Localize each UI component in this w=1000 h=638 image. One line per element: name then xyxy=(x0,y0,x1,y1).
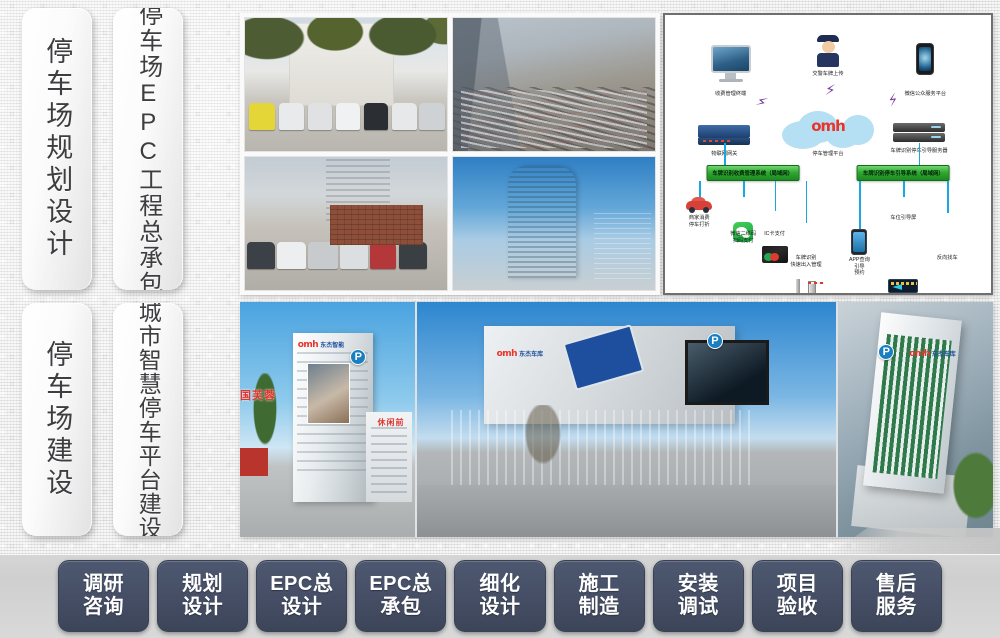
step-label-line2: 制造 xyxy=(579,596,620,619)
step-button-project-acceptance[interactable]: 项目 验收 xyxy=(752,560,843,632)
omh-logo: omh东杰车库 xyxy=(909,349,955,359)
step-button-planning-design[interactable]: 规划 设计 xyxy=(157,560,248,632)
find-car-label: 反向找车 xyxy=(937,255,958,262)
tree-decor xyxy=(251,373,279,453)
process-step-bar: 调研 咨询 规划 设计 EPC总 设计 EPC总 承包 细化 设计 施工 制造 … xyxy=(0,554,1000,638)
sidebar-card-epc-contracting[interactable]: 停车场EPC工程总承包 xyxy=(113,8,183,290)
tree-decor xyxy=(518,405,568,476)
render-smart-garage-building: omh东杰车库 P xyxy=(417,302,836,537)
cloud-platform-label: 停车管理平台 xyxy=(812,151,843,158)
sidebar-card-parking-construction[interactable]: 停车场建设 xyxy=(22,303,92,536)
step-label-line2: 咨询 xyxy=(83,596,124,619)
step-label-line2: 设计 xyxy=(479,596,520,619)
cloud-platform-icon: omh xyxy=(780,109,876,149)
connector-line xyxy=(947,181,948,213)
car-icon xyxy=(686,197,712,212)
smartphone-icon xyxy=(916,43,934,75)
system-architecture-diagram: omh 停车管理平台 收费管理终端 交警车牌上传 微信公众服务平台 物联网网关 xyxy=(663,13,993,295)
step-label-line2: 设计 xyxy=(281,596,322,619)
step-label-line1: 售后 xyxy=(876,573,917,596)
photo-glass-office-tower xyxy=(452,156,656,291)
lightning-bolt-icon: ⚡ xyxy=(824,83,836,99)
landscape-greenery xyxy=(950,448,993,523)
step-label-line1: 调研 xyxy=(83,573,124,596)
charge-system-box: 车牌识别收费管理系统（局域网） xyxy=(706,165,799,181)
ic-card-icon xyxy=(762,246,788,263)
parking-p-badge: P xyxy=(707,333,723,349)
render-aerial-parking-tower: omh东杰车库 P xyxy=(838,302,993,537)
aerial-tower-building xyxy=(863,312,961,493)
step-button-construction-manufacturing[interactable]: 施工 制造 xyxy=(554,560,645,632)
connector-line xyxy=(903,181,904,197)
step-label-line2: 服务 xyxy=(876,596,917,619)
sidebar-card-smart-parking-platform[interactable]: 城市智慧停车平台建设 xyxy=(113,303,183,536)
lightning-bolt-icon: ⚡ xyxy=(753,93,769,111)
wechat-platform-label: 微信公众服务平台 xyxy=(905,91,947,98)
sidebar-card-label: 停车场规划设计 xyxy=(43,37,72,261)
plate-barrier-label: 车牌识别快速出入管理 xyxy=(790,255,821,268)
connector-line xyxy=(919,143,920,165)
sidebar-card-label: 城市智慧停车平台建设 xyxy=(136,303,160,536)
iot-gateway-icon xyxy=(698,125,750,145)
connector-line xyxy=(775,181,776,211)
step-button-research-consulting[interactable]: 调研 咨询 xyxy=(58,560,149,632)
step-button-after-sales-service[interactable]: 售后 服务 xyxy=(851,560,942,632)
step-button-epc-design[interactable]: EPC总 设计 xyxy=(256,560,347,632)
step-label-line1: 规划 xyxy=(182,573,223,596)
street-shopfront xyxy=(240,448,268,476)
wechat-qr-label: 微信二维码扫码支付 xyxy=(730,231,756,244)
step-button-installation-commissioning[interactable]: 安装 调试 xyxy=(653,560,744,632)
step-label-line2: 调试 xyxy=(678,596,719,619)
step-label-line1: 安装 xyxy=(678,573,719,596)
shop-sign-secondary: 休闲前 xyxy=(378,417,405,428)
omh-logo: omh东杰车库 xyxy=(497,349,543,359)
parked-cars xyxy=(245,242,447,269)
connector-line xyxy=(859,181,860,229)
step-label-line2: 承包 xyxy=(380,596,421,619)
guide-system-box: 车牌识别停车引导系统（局域网） xyxy=(857,165,950,181)
connector-line xyxy=(806,181,807,223)
step-label-line1: 细化 xyxy=(479,573,520,596)
photo-surface-parking-lot-with-trees xyxy=(244,17,448,152)
connector-line xyxy=(699,181,700,197)
photo-parking-lot-brick-building xyxy=(244,156,448,291)
monitor-icon xyxy=(711,45,751,82)
merchant-discount-label: 商家消费停车打折 xyxy=(689,215,710,228)
shop-sign-primary: 国芙蓉 xyxy=(240,387,276,403)
lightning-bolt-icon: ⚡ xyxy=(885,92,900,110)
step-label-line2: 设计 xyxy=(182,596,223,619)
led-display-screen xyxy=(685,340,769,406)
photo-aerial-view-parking-lot xyxy=(452,17,656,152)
app-phone-icon xyxy=(851,229,867,255)
garage-glass-facade xyxy=(451,410,753,495)
step-label-line1: EPC总 xyxy=(270,573,333,596)
step-button-detailed-design[interactable]: 细化 设计 xyxy=(454,560,545,632)
omh-logo: omh东杰智能 xyxy=(298,340,344,350)
guide-screen-label: 车位引导屏 xyxy=(890,215,916,222)
step-button-epc-contracting[interactable]: EPC总 承包 xyxy=(355,560,446,632)
architectural-renderings: omh东杰智能 P 国芙蓉 休闲前 omh东杰车库 P omh东杰车库 P xyxy=(240,302,993,537)
render-parking-tower-street-view: omh东杰智能 P 国芙蓉 休闲前 xyxy=(240,302,415,537)
presentation-slide: 停车场规划设计 停车场EPC工程总承包 停车场建设 城市智慧停车平台建设 xyxy=(0,0,1000,638)
barrier-gate-icon xyxy=(794,275,818,295)
building-billboard xyxy=(307,363,351,424)
policeman-icon xyxy=(816,35,840,67)
ic-card-label: IC卡支付 xyxy=(764,231,785,238)
app-query-label: APP查询引导预约 xyxy=(849,257,870,277)
sidebar-card-label: 停车场建设 xyxy=(43,340,72,500)
sidebar-card-label: 停车场EPC工程总承包 xyxy=(135,8,160,290)
monitor-label: 收费管理终端 xyxy=(715,91,746,98)
sidebar-card-parking-planning[interactable]: 停车场规划设计 xyxy=(22,8,92,290)
server-icon xyxy=(893,123,945,143)
guide-screen-icon xyxy=(888,279,918,293)
step-label-line1: 项目 xyxy=(777,573,818,596)
step-label-line2: 验收 xyxy=(777,596,818,619)
omh-logo: omh xyxy=(811,117,845,135)
police-upload-label: 交警车牌上传 xyxy=(812,71,843,78)
step-label-line1: 施工 xyxy=(579,573,620,596)
parked-cars xyxy=(245,103,447,130)
photo-collage xyxy=(240,13,660,295)
connector-line xyxy=(724,143,725,165)
step-label-line1: EPC总 xyxy=(369,573,432,596)
connector-line xyxy=(743,181,744,197)
street-road xyxy=(417,485,836,537)
